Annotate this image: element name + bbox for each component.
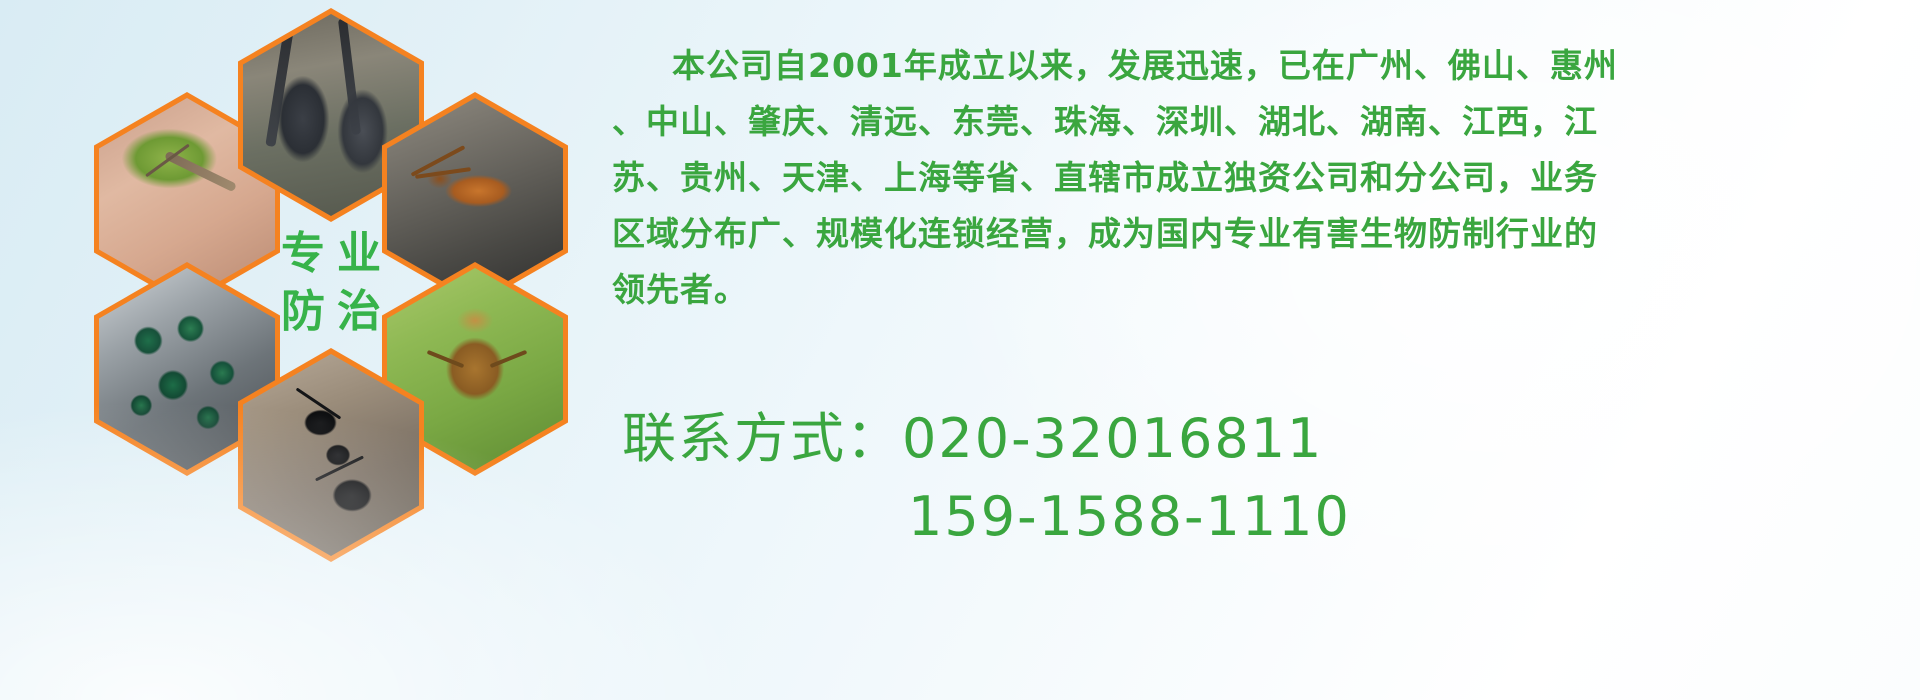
hex-cell-ant-inner	[243, 354, 419, 556]
about-line-5: 领先者。	[612, 262, 1880, 318]
center-label-line-1: 专业	[269, 232, 393, 276]
about-line-4: 区域分布广、规模化连锁经营，成为国内专业有害生物防制行业的	[612, 206, 1880, 262]
about-line-2: 、中山、肇庆、清远、东莞、珠海、深圳、湖北、湖南、江西，江	[612, 94, 1880, 150]
about-line-3: 苏、贵州、天津、上海等省、直辖市成立独资公司和分公司，业务	[612, 150, 1880, 206]
ant-icon	[243, 354, 419, 556]
contact-phone-mobile[interactable]: 159-1588-1110	[622, 478, 1822, 556]
honeycomb-gallery: 专业 防治	[60, 0, 600, 580]
center-label-line-2: 防治	[269, 290, 393, 334]
contact-block: 联系方式：020-32016811 159-1588-1110	[622, 400, 1822, 556]
contact-phone-landline[interactable]: 联系方式：020-32016811	[622, 400, 1822, 478]
about-paragraph: 本公司自2001年成立以来，发展迅速，已在广州、佛山、惠州 、中山、肇庆、清远、…	[612, 38, 1880, 318]
about-line-1: 本公司自2001年成立以来，发展迅速，已在广州、佛山、惠州	[612, 38, 1880, 94]
promo-banner: 专业 防治 本公司自2001年成立以来，发展迅速，已在广州、佛山、惠州 、中山、…	[0, 0, 1920, 700]
